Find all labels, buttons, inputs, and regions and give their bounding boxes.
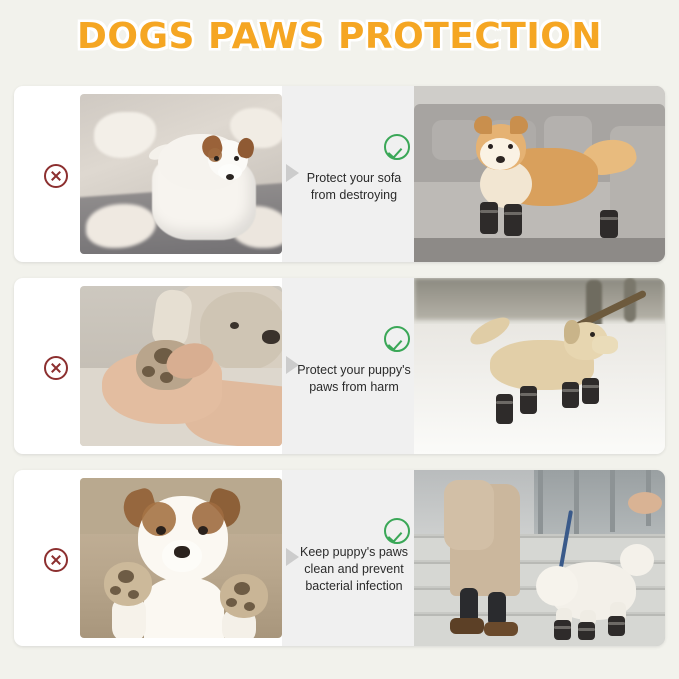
benefit-row-2: Protect your puppy's paws from harm — [14, 278, 665, 454]
dog-boot — [480, 202, 498, 234]
product-infographic: DOGS PAWS PROTECTION Protect your sofa f… — [0, 0, 679, 679]
benefit-row-1: Protect your sofa from destroying — [14, 86, 665, 262]
dog-boot — [554, 620, 571, 640]
dog-boot — [520, 386, 537, 414]
before-image-2 — [80, 286, 282, 446]
page-title: DOGS PAWS PROTECTION — [0, 16, 679, 57]
cross-circle-icon — [44, 548, 68, 572]
check-circle-icon — [384, 518, 410, 544]
cross-circle-icon — [44, 164, 68, 188]
after-image-3 — [414, 470, 665, 646]
check-circle-icon — [384, 326, 410, 352]
check-circle-icon — [384, 134, 410, 160]
cross-circle-icon — [44, 356, 68, 380]
dog-boot — [582, 378, 599, 404]
dog-boot — [578, 622, 595, 640]
before-image-3 — [80, 478, 282, 638]
dog-boot — [562, 382, 579, 408]
benefit-row-3: Keep puppy's paws clean and prevent bact… — [14, 470, 665, 646]
after-image-2 — [414, 278, 665, 454]
dog-boot — [504, 204, 522, 236]
before-image-1 — [80, 94, 282, 254]
dog-boot — [496, 394, 513, 424]
caption-3: Keep puppy's paws clean and prevent bact… — [294, 544, 414, 595]
caption-1: Protect your sofa from destroying — [294, 170, 414, 204]
dog-boot — [600, 210, 618, 238]
after-image-1 — [414, 86, 665, 262]
caption-2: Protect your puppy's paws from harm — [294, 362, 414, 396]
dog-boot — [608, 616, 625, 636]
